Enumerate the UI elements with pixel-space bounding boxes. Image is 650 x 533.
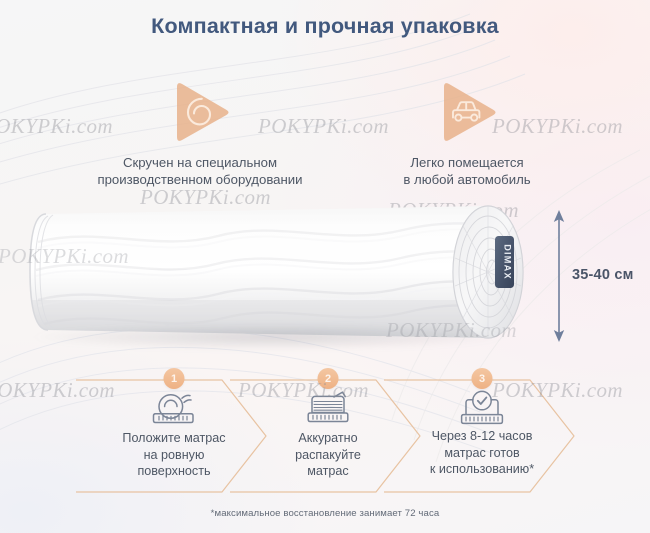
- footnote-text: *максимальное восстановление занимает 72…: [0, 508, 650, 519]
- page-title: Компактная и прочная упаковка: [0, 14, 650, 39]
- feature-text-car: Легко помещается в любой автомобиль: [352, 154, 582, 189]
- feature-line-1: Легко помещается: [352, 154, 582, 171]
- step-number-badge: 2: [318, 368, 339, 389]
- feature-block-rolled: Скручен на специальном производственном …: [60, 76, 340, 189]
- spiral-in-triangle-icon: [60, 76, 340, 148]
- feature-text-rolled: Скручен на специальном производственном …: [60, 154, 340, 189]
- feature-line-2: в любой автомобиль: [352, 171, 582, 188]
- step-text-3: Через 8-12 часов матрас готов к использо…: [384, 428, 580, 478]
- step-number-badge: 1: [164, 368, 185, 389]
- dimension-indicator: 35-40 см: [548, 206, 648, 346]
- step-line-3: к использованию*: [384, 461, 580, 478]
- unpack-mattress-icon: [306, 389, 350, 434]
- infographic-canvas: POKYPKi.com POKYPKi.com POKYPKi.com POKY…: [0, 0, 650, 533]
- svg-text:DIMAX: DIMAX: [503, 244, 513, 280]
- step-line-1: Через 8-12 часов: [384, 428, 580, 445]
- dimension-label: 35-40 см: [572, 267, 634, 283]
- brand-tag: DIMAX: [495, 236, 514, 288]
- rolled-mattress-icon: [151, 389, 197, 434]
- step-item-3: 3: [384, 376, 580, 496]
- feature-line-1: Скручен на специальном: [60, 154, 340, 171]
- product-rolled-mattress: DIMAX POKYPKi.com POKYPKi.com: [8, 196, 553, 356]
- feature-line-2: производственном оборудовании: [60, 171, 340, 188]
- step-number-badge: 3: [472, 368, 493, 389]
- car-in-triangle-icon: [352, 76, 582, 148]
- steps-row: 1: [18, 376, 632, 498]
- step-line-2: матрас готов: [384, 445, 580, 462]
- product-shadow: [34, 324, 504, 350]
- feature-block-car: Легко помещается в любой автомобиль: [352, 76, 582, 189]
